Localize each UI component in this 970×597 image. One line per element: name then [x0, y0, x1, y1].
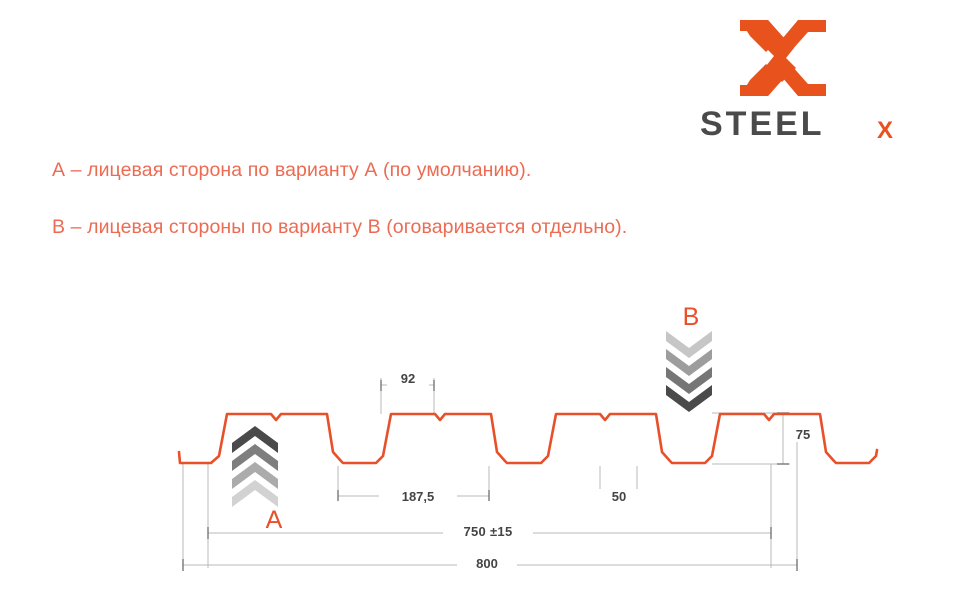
dimension-label-rib-top-width: 92	[387, 371, 429, 386]
dimension-label-valley-width: 50	[598, 489, 640, 504]
corrugated-profile-outline	[179, 414, 877, 463]
dimension-label-useful-width: 750 ±15	[443, 524, 533, 539]
marker-a-chevrons	[232, 426, 278, 507]
marker-b-chevrons	[666, 331, 712, 412]
dimension-label-total-width: 800	[457, 556, 517, 571]
dimension-label-rib-pitch: 187,5	[379, 489, 457, 504]
marker-b-label: B	[671, 303, 711, 332]
profile-spec-sheet: STEEL X А – лицевая сторона по варианту …	[0, 0, 970, 597]
marker-a-label: A	[254, 506, 294, 535]
profile-drawing	[0, 0, 970, 597]
dimension-lines	[183, 378, 797, 568]
dimension-label-profile-height: 75	[786, 427, 820, 442]
dimension-end-ticks	[183, 380, 797, 571]
